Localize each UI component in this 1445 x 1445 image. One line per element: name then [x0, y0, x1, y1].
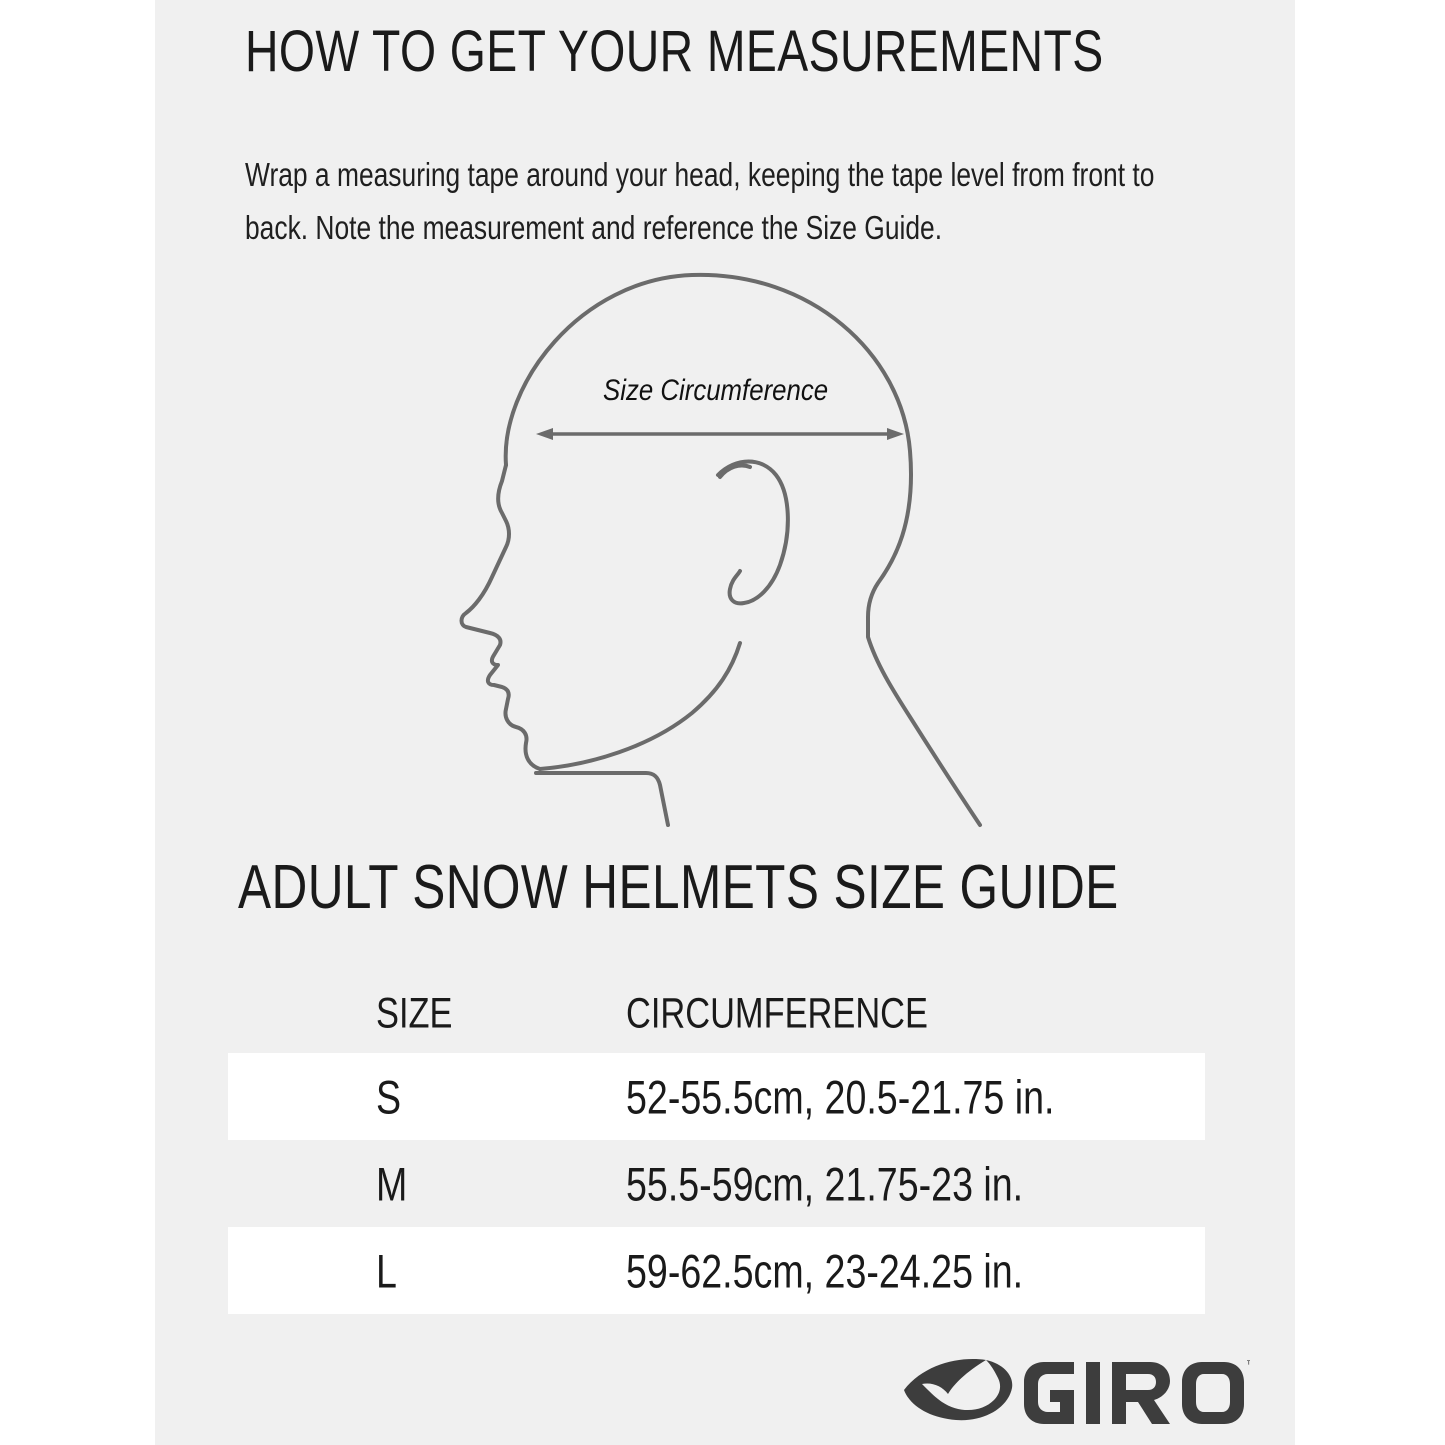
cell-size: M: [376, 1156, 407, 1211]
trademark-symbol: ™: [1246, 1359, 1250, 1371]
cell-circumference: 55.5-59cm, 21.75-23 in.: [626, 1156, 1023, 1211]
table-header-row: SIZE CIRCUMFERENCE: [228, 975, 1205, 1053]
cell-size: S: [376, 1069, 401, 1124]
size-guide-page: HOW TO GET YOUR MEASUREMENTS Wrap a meas…: [0, 0, 1445, 1445]
dimension-label: Size Circumference: [603, 374, 828, 408]
table-row: M 55.5-59cm, 21.75-23 in.: [228, 1140, 1205, 1227]
giro-logo: ™: [898, 1356, 1250, 1430]
size-guide-title: ADULT SNOW HELMETS SIZE GUIDE: [238, 856, 1119, 920]
column-header-size: SIZE: [376, 990, 452, 1039]
measurement-arrow: [536, 428, 904, 440]
page-title: HOW TO GET YOUR MEASUREMENTS: [245, 22, 1104, 82]
instructions-text: Wrap a measuring tape around your head, …: [245, 148, 1189, 255]
table-row: L 59-62.5cm, 23-24.25 in.: [228, 1227, 1205, 1314]
column-header-circumference: CIRCUMFERENCE: [626, 990, 928, 1039]
table-row: S 52-55.5cm, 20.5-21.75 in.: [228, 1053, 1205, 1140]
cell-size: L: [376, 1243, 397, 1298]
head-profile-icon: [440, 265, 1020, 830]
cell-circumference: 52-55.5cm, 20.5-21.75 in.: [626, 1069, 1055, 1124]
size-guide-table: SIZE CIRCUMFERENCE S 52-55.5cm, 20.5-21.…: [228, 975, 1205, 1314]
cell-circumference: 59-62.5cm, 23-24.25 in.: [626, 1243, 1023, 1298]
